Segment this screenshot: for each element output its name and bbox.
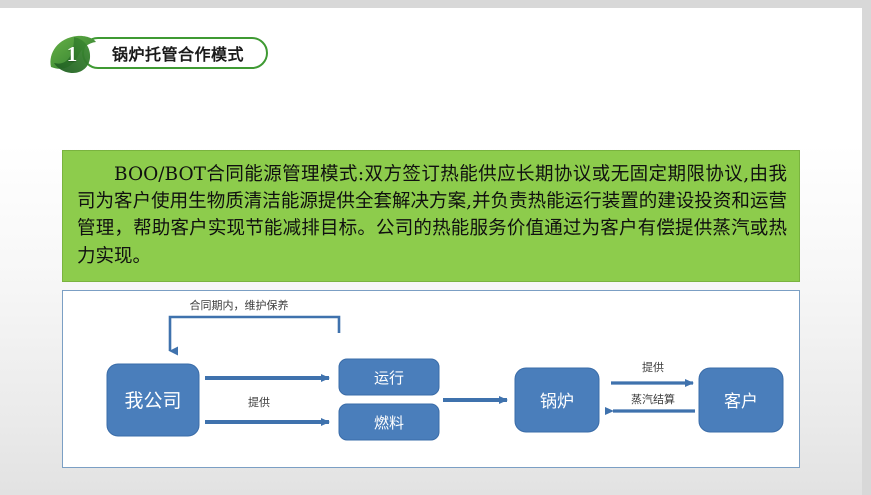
badge-number: 1 [44,33,98,75]
node-operation-label: 运行 [374,369,404,387]
provide-left-label: 提供 [248,395,270,409]
description-banner: BOO/BOT合同能源管理模式:双方签订热能供应长期协议或无固定期限协议,由我司… [62,150,800,282]
section-title-pill: 锅炉托管合作模式 [82,37,268,69]
node-company-label: 我公司 [124,390,181,412]
node-company: 我公司 [107,364,199,436]
slide-header: 1 锅炉托管合作模式 [44,30,284,76]
description-text: BOO/BOT合同能源管理模式:双方签订热能供应长期协议或无固定期限协议,由我司… [77,161,787,270]
node-boiler: 锅炉 [515,368,599,432]
node-operation: 运行 [339,359,439,395]
node-fuel-label: 燃料 [374,414,404,432]
settlement-label: 蒸汽结算 [631,392,675,406]
page-title: 锅炉托管合作模式 [112,41,244,65]
node-boiler-label: 锅炉 [540,392,574,412]
node-fuel: 燃料 [339,404,439,440]
leaf-badge-icon: 1 [44,33,98,75]
node-customer-label: 客户 [724,392,758,412]
maintenance-label: 合同期内，维护保养 [190,298,289,312]
provide-right-label: 提供 [642,360,664,374]
maintenance-connector [170,317,339,351]
process-diagram: 合同期内，维护保养 我公司 提供 运行 燃料 [62,290,800,468]
node-customer: 客户 [699,368,783,432]
slide-canvas: 1 锅炉托管合作模式 BOO/BOT合同能源管理模式:双方签订热能供应长期协议或… [0,8,862,495]
